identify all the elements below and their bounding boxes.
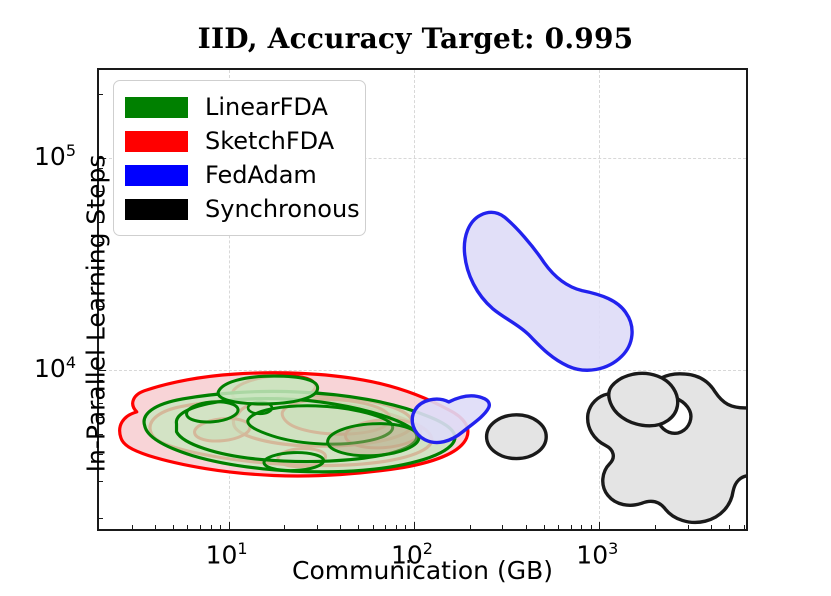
legend-item-synchronous[interactable]: Synchronous [125, 192, 355, 226]
linearfda-upper-lobe [218, 376, 318, 404]
synchronous-small-blob [487, 415, 547, 459]
contour-synchronous [487, 373, 746, 522]
legend-swatch-synchronous [125, 199, 188, 220]
figure: IID, Accuracy Target: 0.995 [0, 0, 831, 596]
y-axis-title: In-Parallel Learning Steps [82, 114, 111, 514]
fedadam-main-blob [464, 212, 632, 370]
legend-label-linearfda: LinearFDA [205, 95, 328, 119]
legend-swatch-sketchfda [125, 131, 188, 152]
y-tick-label: 105 [34, 141, 76, 171]
legend-label-fedadam: FedAdam [205, 163, 317, 187]
legend-label-synchronous: Synchronous [205, 197, 360, 221]
x-axis-title: Communication (GB) [97, 556, 748, 585]
legend-item-fedadam[interactable]: FedAdam [125, 158, 355, 192]
legend-label-sketchfda: SketchFDA [205, 129, 334, 153]
y-tick-label: 104 [34, 353, 76, 383]
fedadam-lower-blob [412, 396, 489, 443]
legend-swatch-fedadam [125, 165, 188, 186]
legend-item-linearfda[interactable]: LinearFDA [125, 90, 355, 124]
legend-swatch-linearfda [125, 97, 188, 118]
chart-title: IID, Accuracy Target: 0.995 [0, 22, 831, 55]
legend: LinearFDA SketchFDA FedAdam Synchronous [113, 80, 366, 236]
legend-item-sketchfda[interactable]: SketchFDA [125, 124, 355, 158]
